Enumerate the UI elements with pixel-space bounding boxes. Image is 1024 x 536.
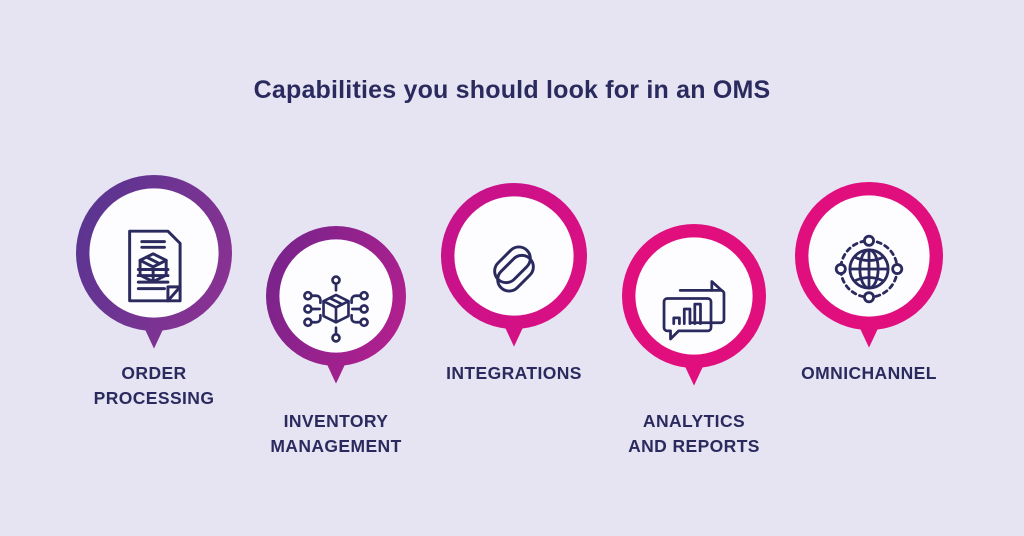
pin-label-line2: MANAGEMENT	[270, 434, 401, 459]
pin-ring-inventory-management	[262, 222, 410, 396]
box-network-icon	[297, 270, 375, 348]
pin-label-integrations: INTEGRATIONS	[446, 361, 582, 386]
pin-label-analytics-and-reports: ANALYTICSAND REPORTS	[628, 409, 760, 459]
pin-label-line2: PROCESSING	[94, 386, 215, 411]
pin-ring-omnichannel	[791, 178, 947, 360]
infographic-canvas: Capabilities you should look for in an O…	[0, 0, 1024, 536]
pin-label-line1: INTEGRATIONS	[446, 361, 582, 386]
pin-ring-analytics-and-reports	[618, 220, 770, 398]
pin-label-line1: ANALYTICS	[628, 409, 760, 434]
pin-label-line1: ORDER	[94, 361, 215, 386]
pin-label-omnichannel: OMNICHANNEL	[801, 361, 937, 386]
pin-ring-order-processing	[72, 171, 236, 361]
pin-ring-integrations	[437, 179, 591, 359]
pin-label-inventory-management: INVENTORYMANAGEMENT	[270, 409, 401, 459]
page-title: Capabilities you should look for in an O…	[0, 76, 1024, 105]
pin-label-line2: AND REPORTS	[628, 434, 760, 459]
pin-label-line1: OMNICHANNEL	[801, 361, 937, 386]
chain-links-icon	[473, 228, 555, 310]
chart-speech-bubble-icon	[654, 269, 735, 350]
pin-label-order-processing: ORDERPROCESSING	[94, 361, 215, 411]
pin-label-line1: INVENTORY	[270, 409, 401, 434]
document-package-icon	[111, 223, 198, 310]
globe-network-icon	[828, 228, 911, 311]
